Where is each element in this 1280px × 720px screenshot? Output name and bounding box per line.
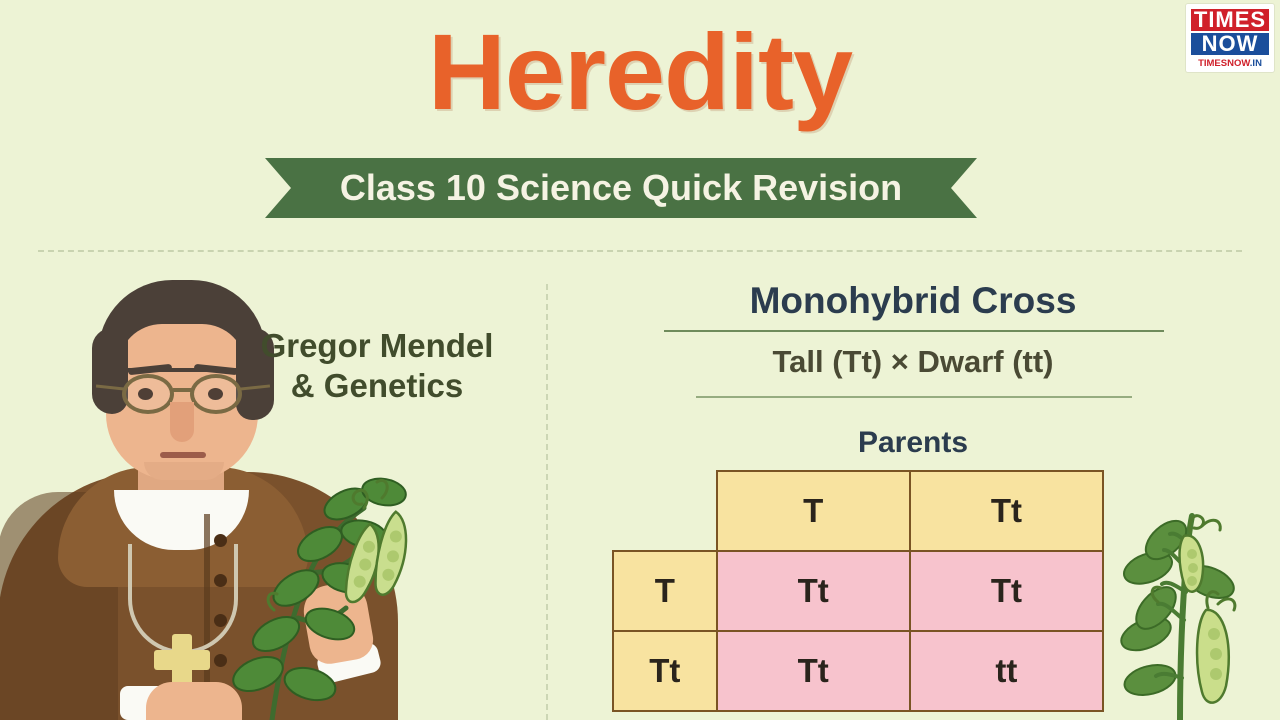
eyeglass-bridge [173,388,192,392]
monohybrid-cross-title: Monohybrid Cross [546,280,1280,322]
logo-now-text: NOW [1189,33,1271,57]
punnett-cell-r1c1: tt [910,631,1103,711]
logo-url-red: TIMESNOW [1198,58,1250,69]
horizontal-divider [38,250,1242,252]
punnett-header-row: T Tt [613,471,1103,551]
cross-formula: Tall (Tt) × Dwarf (tt) [546,344,1280,380]
pea-pod-lower [1197,610,1229,703]
left-panel: Gregor Mendel & Genetics [0,262,546,720]
mendel-caption: Gregor Mendel & Genetics [232,326,522,407]
punnett-square: T Tt T Tt Tt Tt Tt tt [612,470,1104,720]
page-title: Heredity [0,18,1280,126]
logo-url-blue: .IN [1250,58,1262,69]
cross-pendant-arm [154,650,210,670]
punnett-row-header-2: Tt [613,631,717,711]
logo-times-text: TIMES [1189,7,1271,33]
parents-label: Parents [546,426,1280,460]
formula-underline [696,396,1132,398]
times-now-logo[interactable]: TIMES NOW TIMESNOW.IN [1186,4,1274,72]
punnett-table: T Tt T Tt Tt Tt Tt tt [612,470,1104,712]
punnett-cell-r1c0: Tt [717,631,910,711]
punnett-col-header-2: Tt [910,471,1103,551]
pea-pod-upper [1180,536,1204,592]
mendel-caption-line2: & Genetics [232,366,522,406]
chin [144,462,224,480]
pea-plant-illustration-right [1106,492,1276,720]
punnett-cell-r0c0: Tt [717,551,910,631]
punnett-row: T Tt Tt [613,551,1103,631]
hair-side-left [92,328,128,414]
ribbon-label: Class 10 Science Quick Revision [265,158,977,218]
punnett-col-header-1: T [717,471,910,551]
title-underline [664,330,1164,332]
eyeglass-lens-left [122,374,174,414]
punnett-corner-blank [613,471,717,551]
mendel-caption-line1: Gregor Mendel [232,326,522,366]
punnett-cell-r0c1: Tt [910,551,1103,631]
pea-plant-illustration [214,412,414,720]
mouth [160,452,206,458]
nose [170,402,194,442]
subtitle-ribbon: Class 10 Science Quick Revision [265,158,977,218]
logo-url: TIMESNOW.IN [1189,57,1271,70]
page-header: Heredity Class 10 Science Quick Revision [0,0,1280,240]
punnett-row: Tt Tt tt [613,631,1103,711]
punnett-row-header-1: T [613,551,717,631]
